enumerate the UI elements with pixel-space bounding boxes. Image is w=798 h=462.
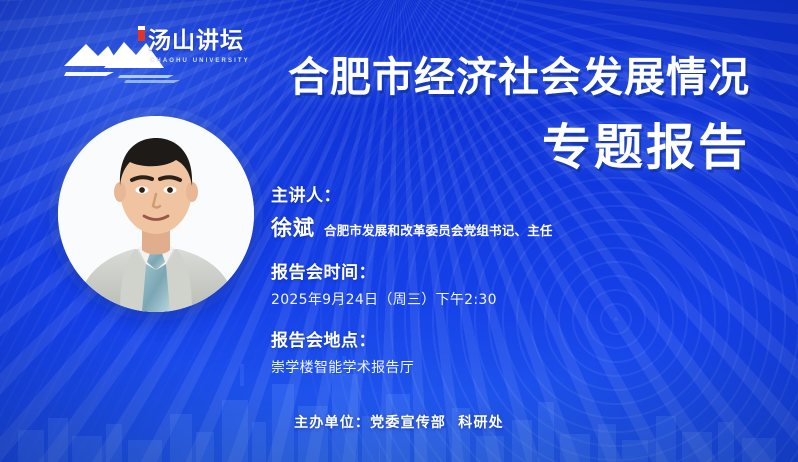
poster-headline: 合肥市经济社会发展情况 专题报告 — [288, 56, 750, 174]
speaker-label: 主讲人： — [271, 188, 691, 205]
venue-block: 报告会地点： 崇学楼智能学术报告厅 — [271, 333, 691, 375]
venue-value: 崇学楼智能学术报告厅 — [271, 361, 691, 375]
organizer-text: 主办单位：党委宣传部 科研处 — [294, 412, 504, 432]
logo-name-en: CHAOHU UNIVERSITY — [150, 58, 250, 64]
lecture-details: 主讲人： 徐斌 合肥市发展和改革委员会党组书记、主任 报告会时间： 2025年9… — [271, 188, 691, 375]
speaker-name: 徐斌 — [271, 218, 315, 239]
time-label: 报告会时间： — [271, 265, 691, 282]
speaker-row: 徐斌 合肥市发展和改革委员会党组书记、主任 — [271, 218, 691, 239]
logo-name-cn: 汤山讲坛 — [148, 30, 244, 53]
time-value: 2025年9月24日（周三）下午2:30 — [271, 293, 691, 307]
venue-label: 报告会地点： — [271, 333, 691, 350]
time-block: 报告会时间： 2025年9月24日（周三）下午2:30 — [271, 265, 691, 307]
organizer-footer: 主办单位：党委宣传部 科研处 — [0, 412, 798, 432]
speaker-title: 合肥市发展和改革委员会党组书记、主任 — [324, 225, 553, 238]
lecture-poster: 汤山讲坛 CHAOHU UNIVERSITY 合肥市经济社会发展情况 专题报告 — [0, 0, 798, 462]
chaohu-university-logo: 汤山讲坛 CHAOHU UNIVERSITY — [62, 22, 242, 84]
speaker-block: 主讲人： 徐斌 合肥市发展和改革委员会党组书记、主任 — [271, 188, 691, 239]
headline-line-1: 合肥市经济社会发展情况 — [288, 56, 750, 99]
headline-line-2: 专题报告 — [288, 123, 750, 174]
speaker-portrait-container — [58, 116, 254, 312]
avatar — [58, 116, 254, 312]
